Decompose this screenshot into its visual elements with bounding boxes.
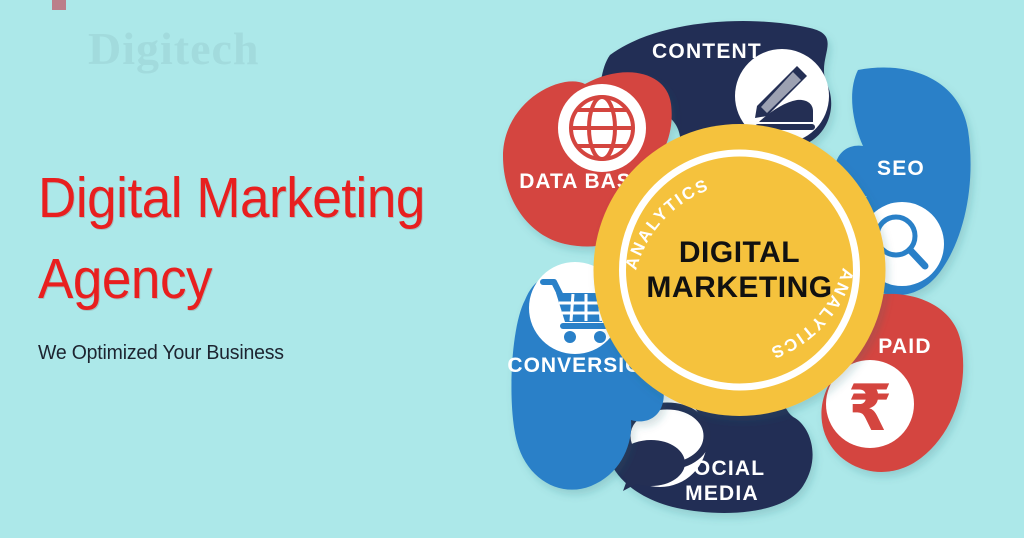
watermark-logo-mark [52, 0, 66, 10]
petal-social-media-label-line2: MEDIA [685, 482, 759, 505]
tagline: We Optimized Your Business [38, 341, 447, 365]
digital-marketing-diagram: CONTENT SEO [455, 0, 1024, 538]
petal-paid-label: PAID [878, 335, 931, 358]
center-hub[interactable]: DIGITAL MARKETING ANALYTICS ANALYTICS [594, 124, 886, 416]
center-title-line2: MARKETING [646, 271, 832, 304]
petal-seo-label: SEO [877, 157, 925, 180]
watermark-logo-text: Digitech [88, 22, 260, 75]
petal-data-base-icon-badge [558, 84, 646, 172]
marketing-banner: Digitech Digital Marketing Agency We Opt… [0, 0, 1024, 538]
center-title-line1: DIGITAL [679, 236, 800, 269]
rupee-icon: ₹ [848, 372, 893, 446]
headline-block: Digital Marketing Agency We Optimized Yo… [38, 158, 468, 365]
petal-content-label: CONTENT [652, 40, 762, 63]
page-title: Digital Marketing Agency [38, 158, 438, 320]
